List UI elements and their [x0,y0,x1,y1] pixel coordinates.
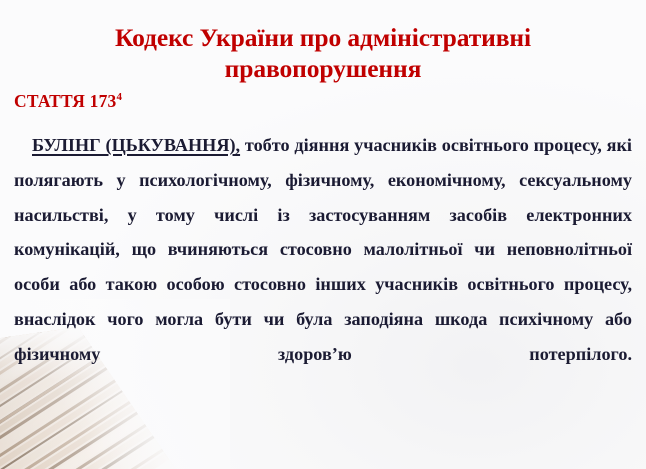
article-label: СТАТТЯ 173 [14,91,116,111]
slide-canvas: Кодекс України про адміністративні право… [0,0,646,469]
definition-text: тобто діяння учасників освітнього процес… [14,135,632,364]
article-number-heading: СТАТТЯ 1734 [14,90,122,112]
title-line-1: Кодекс України про адміністративні [44,22,602,53]
article-superscript: 4 [116,91,122,103]
slide-content: Кодекс України про адміністративні право… [0,0,646,469]
article-body-text: БУЛІНГ (ЦЬКУВАННЯ), тобто діяння учасник… [14,128,632,406]
lead-term: БУЛІНГ (ЦЬКУВАННЯ), [32,135,240,155]
page-title: Кодекс України про адміністративні право… [44,22,602,84]
title-line-2: правопорушення [44,53,602,84]
